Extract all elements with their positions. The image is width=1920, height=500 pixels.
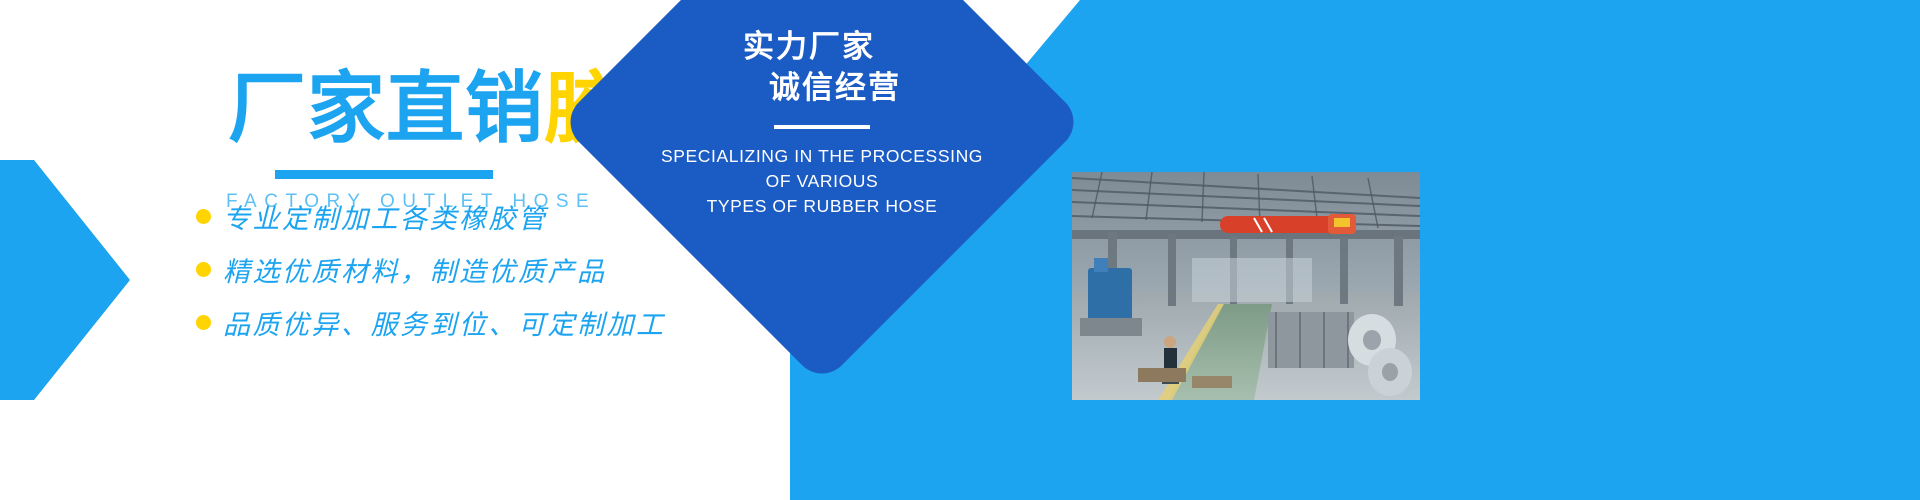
list-item-label: 精选优质材料，制造优质产品: [223, 250, 607, 289]
factory-photo-image: [1072, 172, 1420, 400]
bullet-dot-icon: [196, 315, 211, 330]
title-divider: [275, 170, 493, 179]
bullet-dot-icon: [196, 209, 211, 224]
list-item-label: 专业定制加工各类橡胶管: [223, 197, 548, 236]
feature-list: 专业定制加工各类橡胶管 精选优质材料，制造优质产品 品质优异、服务到位、可定制加…: [196, 196, 666, 355]
title-part-primary: 厂家直销: [228, 64, 544, 152]
list-item: 品质优异、服务到位、可定制加工: [196, 302, 666, 342]
headline-block: 厂家直销胶管 FACTORY OUTLET HOSE 专业定制加工各类橡胶管 精…: [0, 0, 660, 500]
list-item-label: 品质优异、服务到位、可定制加工: [223, 303, 666, 342]
bullet-dot-icon: [196, 262, 211, 277]
list-item: 专业定制加工各类橡胶管: [196, 196, 666, 236]
factory-photo: [1072, 172, 1420, 400]
crane: [1220, 214, 1356, 234]
promo-banner: 厂家直销胶管 FACTORY OUTLET HOSE 专业定制加工各类橡胶管 精…: [0, 0, 1920, 500]
list-item: 精选优质材料，制造优质产品: [196, 249, 666, 289]
